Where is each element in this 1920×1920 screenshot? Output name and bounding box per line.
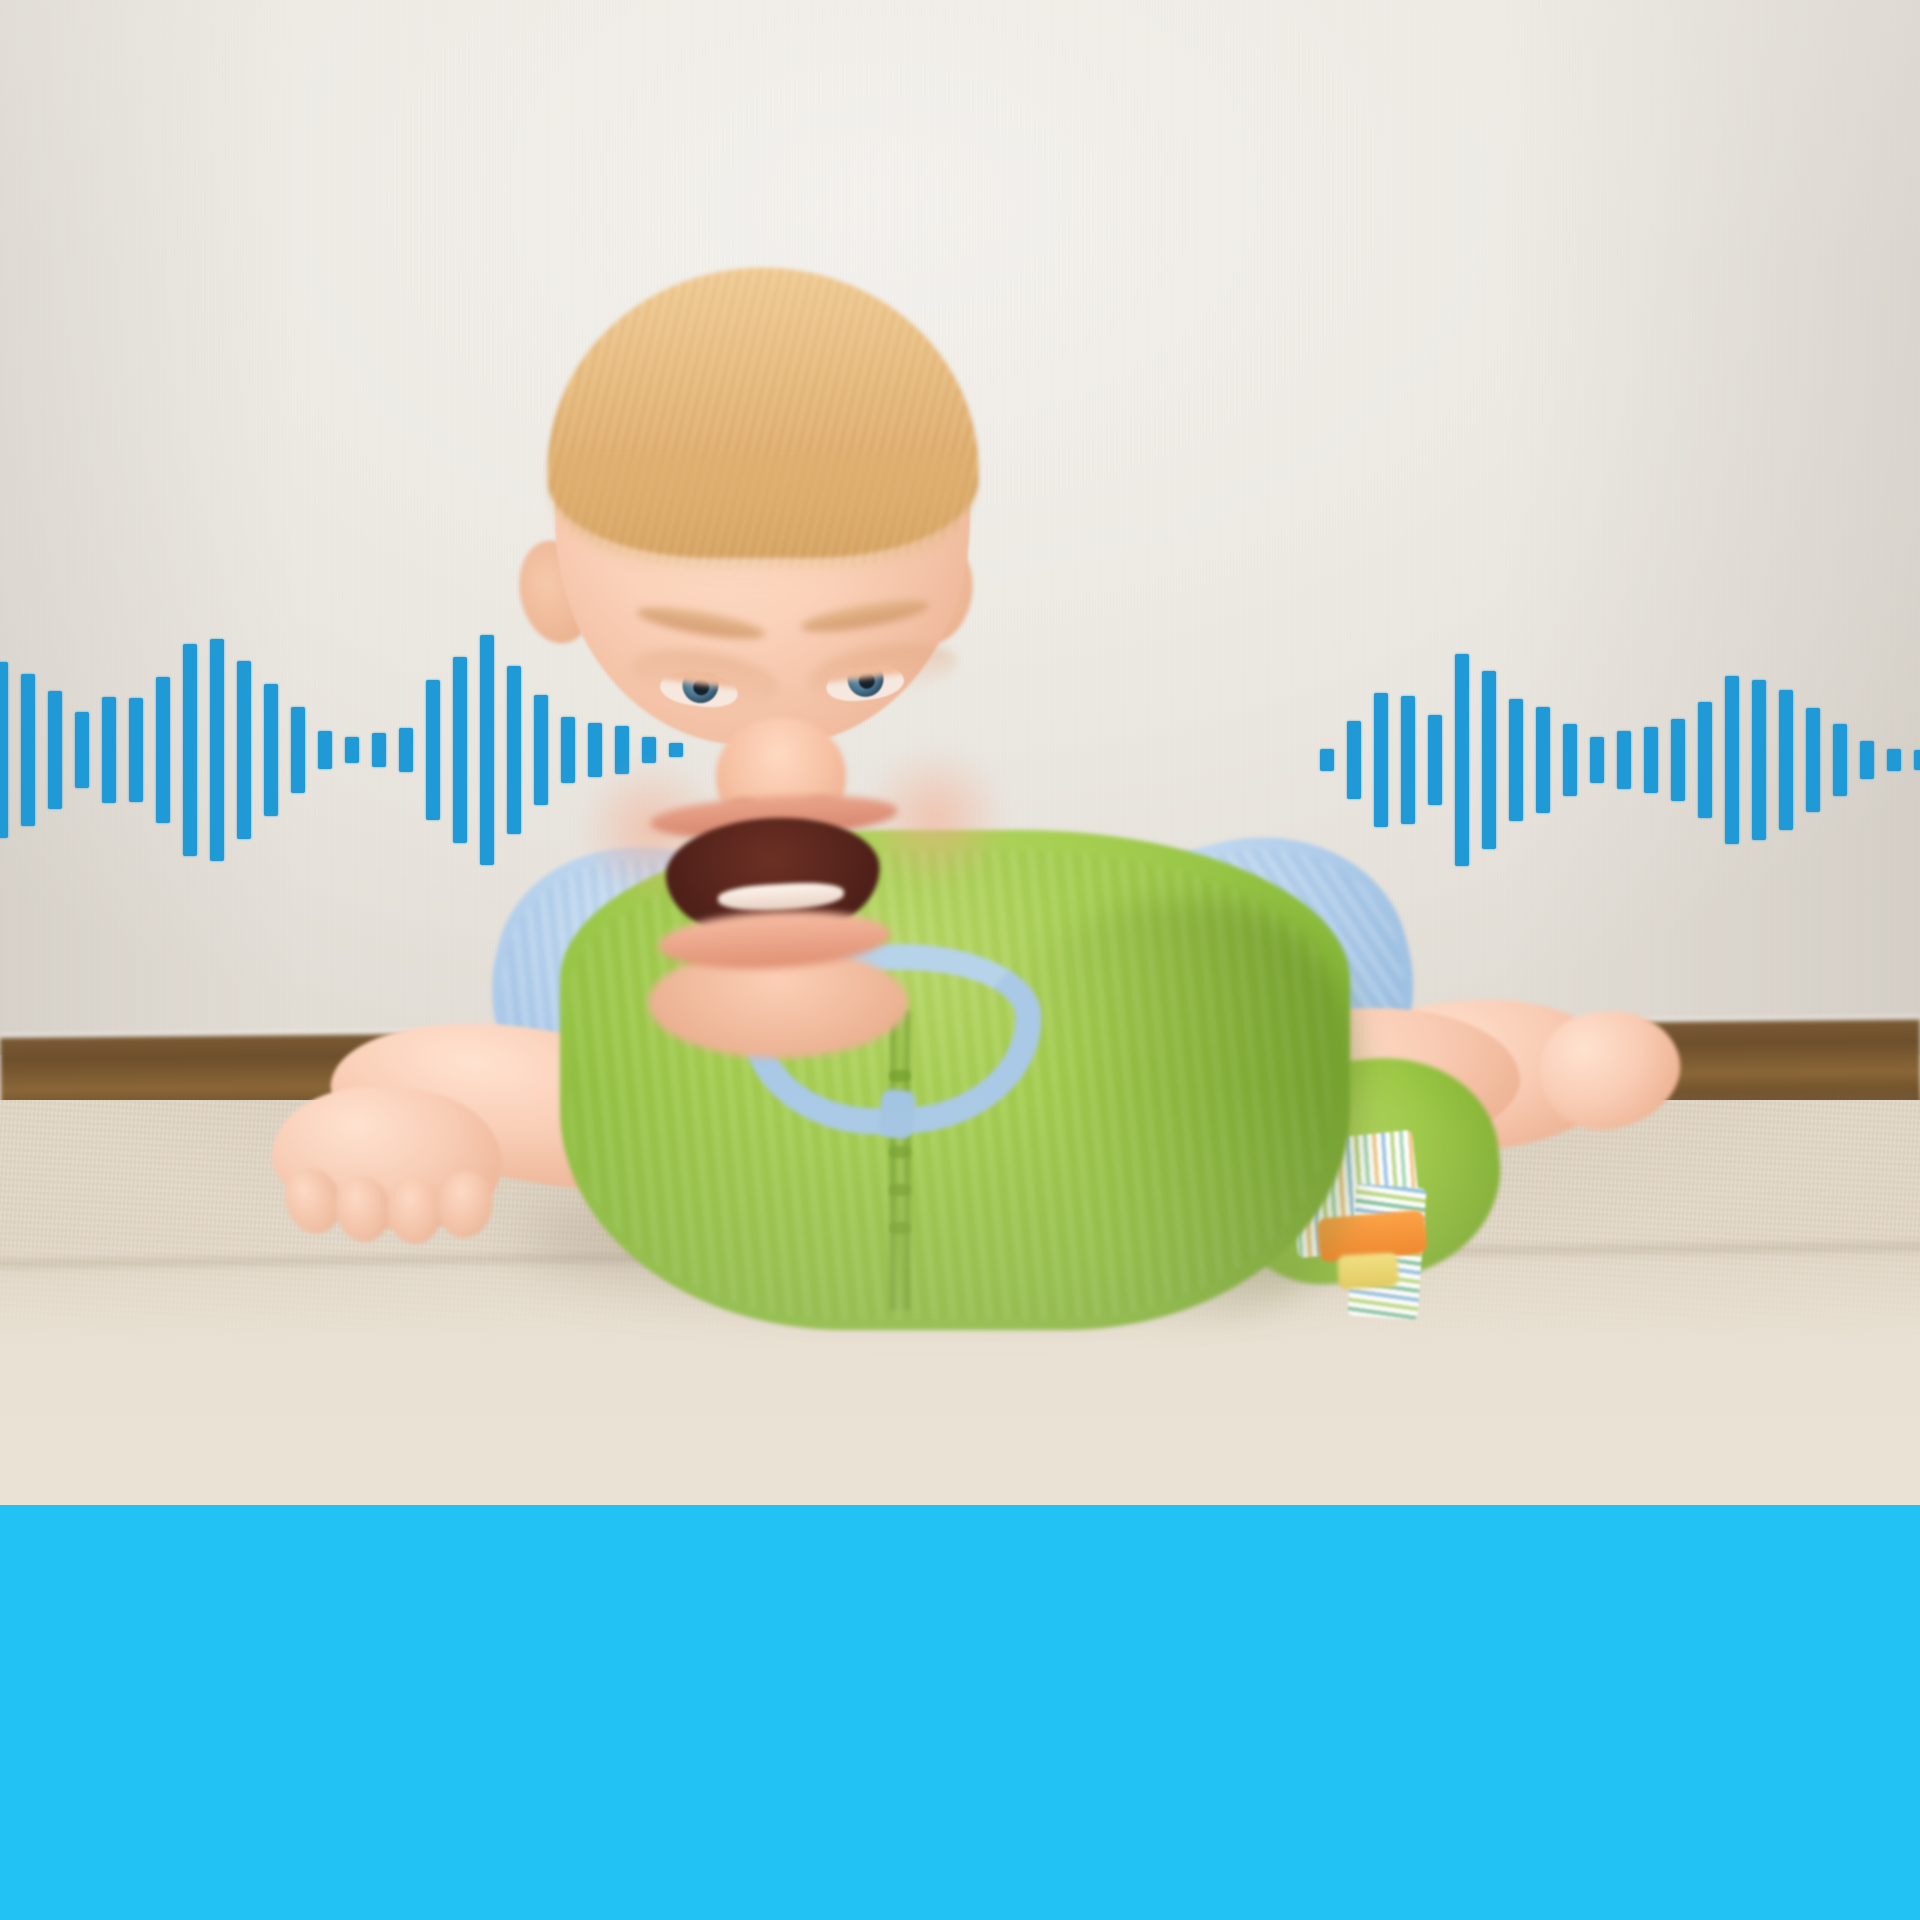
collar-tab [878,1088,917,1139]
scene-photo [0,0,1920,1505]
romper-shading [980,900,1360,1320]
yellow-band [1337,1252,1399,1289]
romper-snap [889,1184,911,1196]
romper-snap [889,1222,911,1234]
promo-banner-image: Abnormal Sound Detection Notifies you wh… [0,0,1920,1920]
romper-snap [889,1146,911,1158]
finger [388,1178,442,1244]
baby-figure [0,0,1920,1505]
footer-band: Abnormal Sound Detection Notifies you wh… [0,1505,1920,1920]
